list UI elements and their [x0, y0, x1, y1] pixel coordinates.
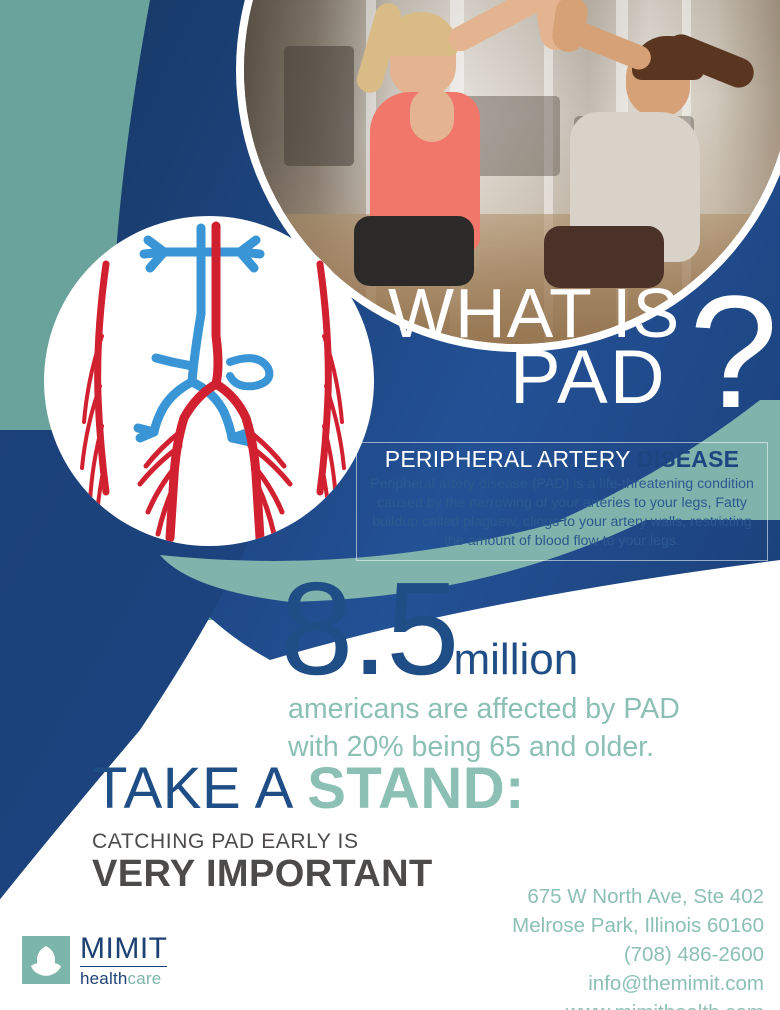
headline-line-2: PAD: [510, 340, 667, 416]
pad-infographic-poster: WHAT IS PAD ? PERIPHERAL ARTERY DISEASE …: [0, 0, 780, 1010]
statistic-caption-line-1: americans are affected by PAD: [288, 691, 740, 729]
cta-headline-teal: STAND:: [307, 756, 525, 821]
contact-email[interactable]: info@themimit.com: [434, 969, 764, 998]
statistic-unit: million: [454, 635, 579, 685]
logo-tagline-care: care: [128, 969, 162, 988]
leaf-icon: [22, 936, 70, 984]
call-to-action-subtitle-1: CATCHING PAD EARLY IS: [92, 830, 712, 854]
description-body: Peripheral artery disease (PAD) is a lif…: [367, 475, 757, 550]
description-title-strong: DISEASE: [637, 446, 739, 472]
gym-equipment: [284, 46, 354, 166]
contact-block: 675 W North Ave, Ste 402 Melrose Park, I…: [434, 882, 764, 1010]
peripheral-artery-diagram: [44, 216, 374, 546]
contact-address-line-1: 675 W North Ave, Ste 402: [434, 882, 764, 911]
logo-text: MIMIT healthcare: [80, 934, 167, 989]
contact-address-line-2: Melrose Park, Illinois 60160: [434, 911, 764, 940]
leaf-icon-glyph: [22, 936, 70, 984]
cta-headline-navy: TAKE A: [92, 756, 307, 821]
mimit-healthcare-logo: MIMIT healthcare: [22, 936, 212, 994]
headline-block: WHAT IS PAD ?: [370, 278, 770, 438]
description-title: PERIPHERAL ARTERY DISEASE: [367, 447, 757, 472]
headline-question-mark: ?: [689, 272, 778, 432]
statistic-headline-row: 8.5million: [280, 568, 740, 689]
logo-tagline: healthcare: [80, 969, 167, 989]
statistic-block: 8.5million americans are affected by PAD…: [280, 568, 740, 767]
logo-tagline-health: health: [80, 969, 128, 988]
contact-phone[interactable]: (708) 486-2600: [434, 940, 764, 969]
call-to-action-headline: TAKE A STAND:: [92, 760, 712, 818]
logo-name: MIMIT: [80, 934, 167, 967]
person-left-shoulder: [410, 88, 454, 142]
artery-illustration-circle: [44, 216, 374, 546]
description-card: PERIPHERAL ARTERY DISEASE Peripheral art…: [356, 442, 768, 561]
call-to-action-block: TAKE A STAND: CATCHING PAD EARLY IS VERY…: [92, 760, 712, 895]
description-title-light: PERIPHERAL ARTERY: [385, 446, 630, 472]
contact-website[interactable]: www.mimithealth.com: [434, 998, 764, 1010]
statistic-number: 8.5: [280, 568, 458, 689]
